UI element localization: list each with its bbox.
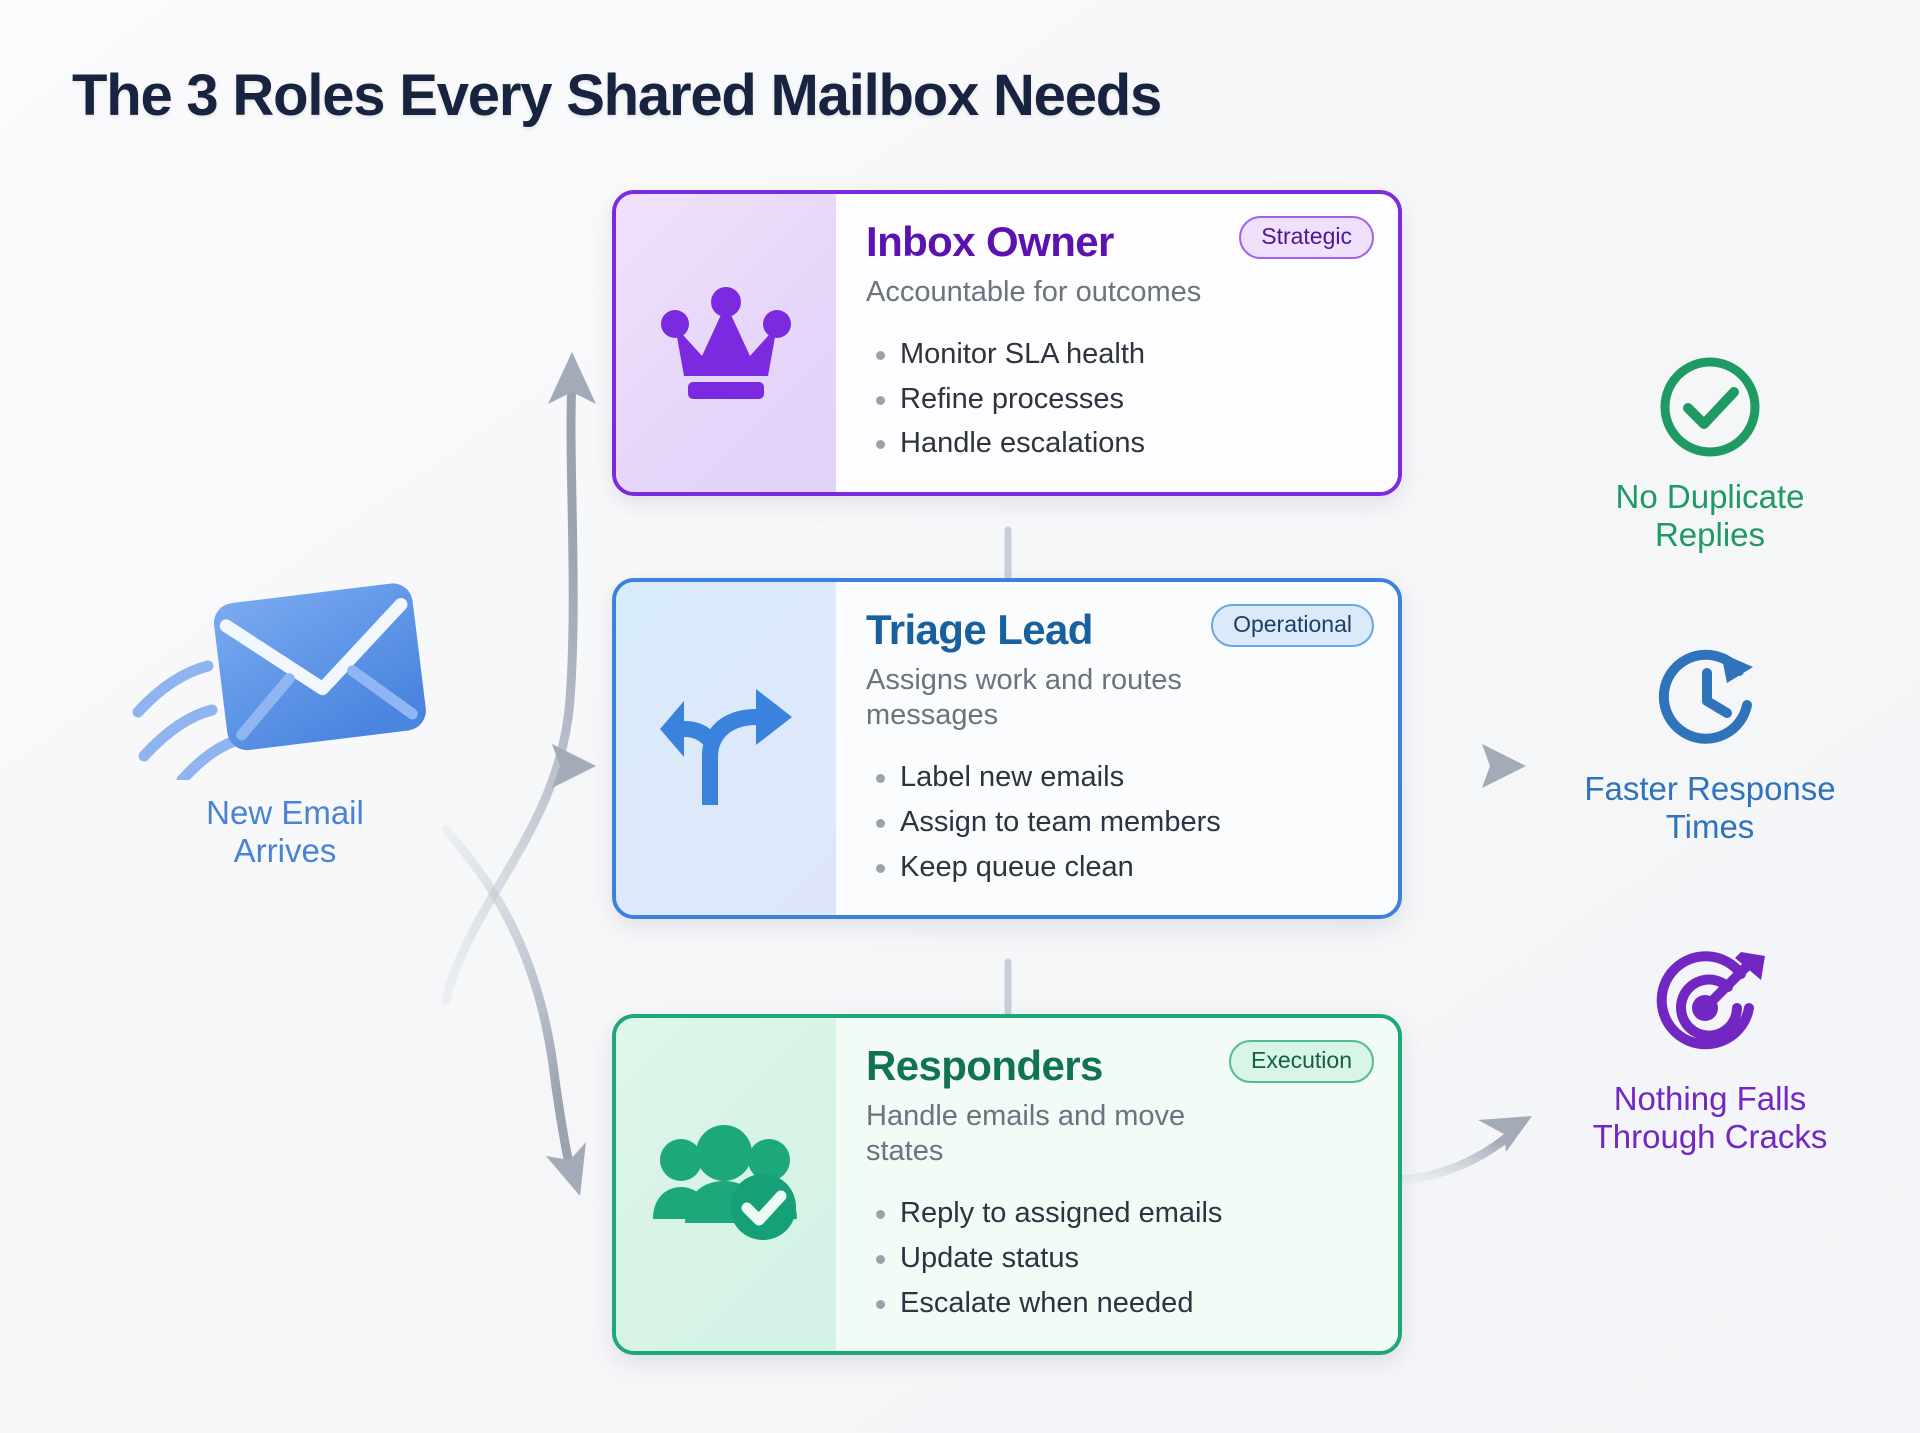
arrow-source-to-triage-lead xyxy=(452,744,596,788)
list-item: Update status xyxy=(866,1236,1372,1281)
card-body: Strategic Inbox Owner Accountable for ou… xyxy=(836,194,1398,492)
role-card-triage-lead[interactable]: Operational Triage Lead Assigns work and… xyxy=(612,578,1402,919)
role-card-responders[interactable]: Execution Responders Handle emails and m… xyxy=(612,1014,1402,1355)
people-check-icon xyxy=(651,1123,801,1246)
arrow-triage-to-outcome xyxy=(1404,744,1526,788)
list-item: Assign to team members xyxy=(866,800,1372,845)
card-body: Operational Triage Lead Assigns work and… xyxy=(836,582,1398,915)
outcome-label-line1: Nothing Falls xyxy=(1540,1080,1880,1118)
envelope-icon xyxy=(120,580,450,780)
card-icon-panel xyxy=(616,582,836,915)
outcome-label: No Duplicate Replies xyxy=(1540,478,1880,555)
arrow-source-to-responders xyxy=(446,830,586,1196)
source-label-line1: New Email xyxy=(120,794,450,832)
outcome-label: Faster Response Times xyxy=(1540,770,1880,847)
source-label-line2: Arrives xyxy=(120,832,450,870)
card-bullet-list: Label new emails Assign to team members … xyxy=(866,755,1372,889)
card-subtitle: Handle emails and move states xyxy=(866,1099,1256,1170)
source-label: New Email Arrives xyxy=(120,794,450,870)
card-icon-panel xyxy=(616,194,836,492)
list-item: Reply to assigned emails xyxy=(866,1191,1372,1236)
outcome-no-duplicate-replies: No Duplicate Replies xyxy=(1540,348,1880,555)
outcome-faster-response-times: Faster Response Times xyxy=(1540,640,1880,847)
outcome-label-line1: No Duplicate xyxy=(1540,478,1880,516)
list-item: Escalate when needed xyxy=(866,1281,1372,1326)
arrow-responders-to-outcome xyxy=(1398,1116,1532,1180)
outcome-label-line2: Replies xyxy=(1540,516,1880,554)
role-card-inbox-owner[interactable]: Strategic Inbox Owner Accountable for ou… xyxy=(612,190,1402,496)
outcome-label-line2: Times xyxy=(1540,808,1880,846)
card-body: Execution Responders Handle emails and m… xyxy=(836,1018,1398,1351)
list-item: Refine processes xyxy=(866,377,1372,422)
outcome-label: Nothing Falls Through Cracks xyxy=(1540,1080,1880,1157)
check-circle-icon xyxy=(1540,348,1880,466)
crown-icon xyxy=(658,280,794,405)
card-icon-panel xyxy=(616,1018,836,1351)
card-subtitle: Assigns work and routes messages xyxy=(866,663,1256,734)
clock-arrow-icon xyxy=(1540,640,1880,758)
card-subtitle: Accountable for outcomes xyxy=(866,275,1256,310)
status-badge: Execution xyxy=(1229,1040,1374,1083)
list-item: Handle escalations xyxy=(866,421,1372,466)
arrow-source-to-inbox-owner xyxy=(446,352,596,1000)
outcome-nothing-falls-through-cracks: Nothing Falls Through Cracks xyxy=(1540,950,1880,1157)
status-badge: Operational xyxy=(1211,604,1374,647)
outcome-label-line1: Faster Response xyxy=(1540,770,1880,808)
list-item: Monitor SLA health xyxy=(866,332,1372,377)
split-arrows-icon xyxy=(656,683,796,814)
status-badge: Strategic xyxy=(1239,216,1374,259)
card-bullet-list: Monitor SLA health Refine processes Hand… xyxy=(866,332,1372,466)
page-title: The 3 Roles Every Shared Mailbox Needs xyxy=(72,62,1161,129)
list-item: Label new emails xyxy=(866,755,1372,800)
source-node-new-email: New Email Arrives xyxy=(120,580,450,870)
list-item: Keep queue clean xyxy=(866,845,1372,890)
outcome-label-line2: Through Cracks xyxy=(1540,1118,1880,1156)
card-bullet-list: Reply to assigned emails Update status E… xyxy=(866,1191,1372,1325)
target-arrow-icon xyxy=(1540,950,1880,1068)
